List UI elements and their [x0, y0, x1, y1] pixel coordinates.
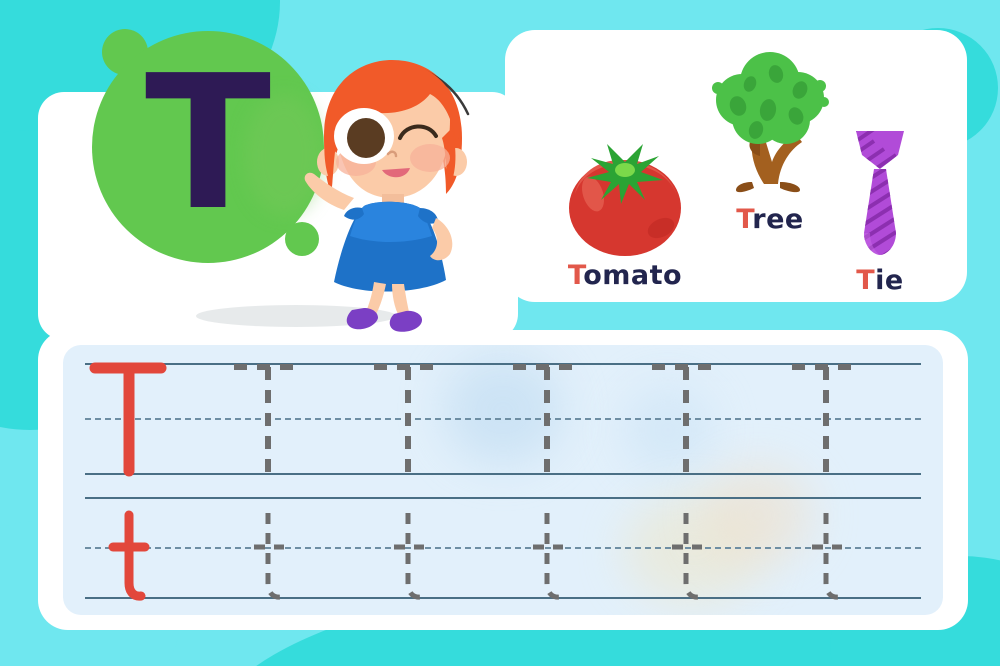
item-label-initial: T: [568, 260, 583, 291]
item-label-initial: T: [736, 204, 752, 235]
trace-slot-uppercase-2[interactable]: [224, 363, 363, 473]
trace-slot-uppercase-1[interactable]: [85, 363, 224, 473]
trace-slot-lowercase-6[interactable]: [782, 497, 921, 597]
tracing-panel[interactable]: [63, 345, 943, 615]
item-label-tie: Tie: [795, 265, 965, 296]
hero-letter: T: [92, 31, 324, 263]
item-label-initial: T: [856, 265, 875, 296]
tracing-row-lowercase[interactable]: [63, 497, 943, 597]
glyph-row-uppercase: [85, 363, 921, 473]
trace-slot-lowercase-1[interactable]: [85, 497, 224, 597]
tracing-row-uppercase[interactable]: [63, 363, 943, 473]
item-label-tomato: Tomato: [525, 260, 725, 291]
trace-slot-lowercase-5[interactable]: [642, 497, 781, 597]
trace-slot-uppercase-6[interactable]: [782, 363, 921, 473]
item-label-rest: omato: [583, 260, 682, 291]
trace-slot-uppercase-5[interactable]: [642, 363, 781, 473]
trace-slot-lowercase-4[interactable]: [503, 497, 642, 597]
girl-character: [296, 58, 482, 333]
glyph-row-lowercase: [85, 497, 921, 597]
trace-slot-lowercase-2[interactable]: [224, 497, 363, 597]
trace-slot-uppercase-3[interactable]: [364, 363, 503, 473]
tie-icon: [834, 125, 926, 265]
item-label-rest: ie: [875, 265, 904, 296]
worksheet-canvas: T: [0, 0, 1000, 666]
items-panel: Tomato: [505, 30, 967, 302]
item-tie[interactable]: Tie: [795, 125, 965, 296]
trace-slot-lowercase-3[interactable]: [364, 497, 503, 597]
trace-slot-uppercase-4[interactable]: [503, 363, 642, 473]
